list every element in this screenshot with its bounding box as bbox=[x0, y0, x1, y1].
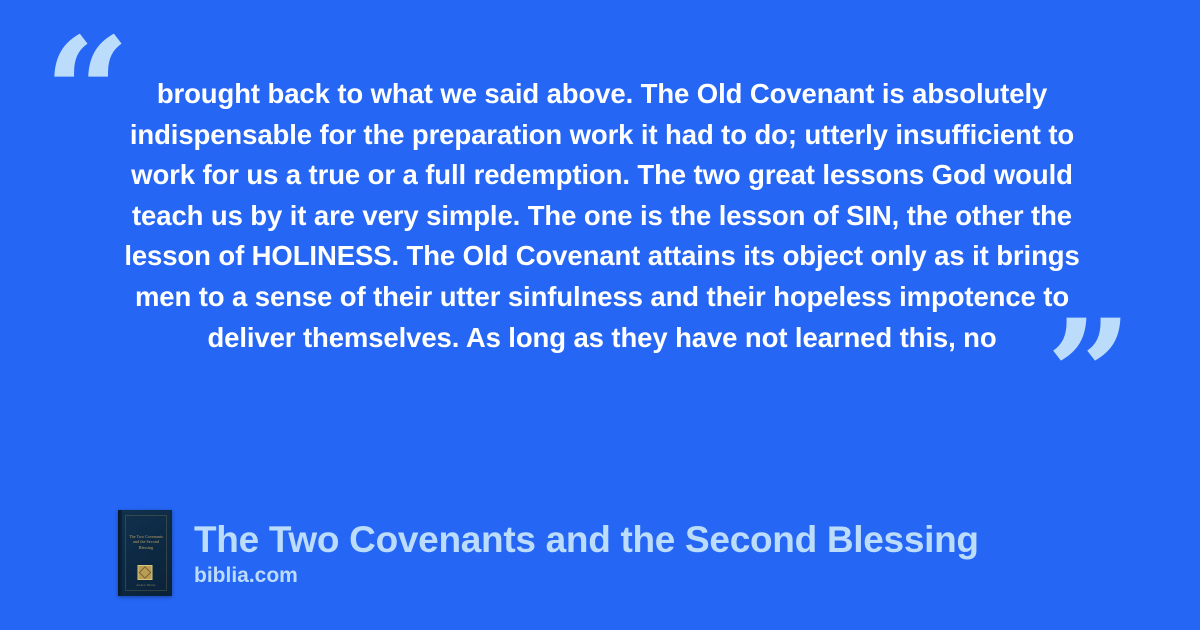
book-title: The Two Covenants and the Second Blessin… bbox=[194, 518, 979, 562]
quote-text: brought back to what we said above. The … bbox=[118, 74, 1086, 358]
quote-card: “ brought back to what we said above. Th… bbox=[0, 0, 1200, 630]
book-cover-thumbnail: The Two Covenants and the Second Blessin… bbox=[118, 510, 172, 596]
book-cover-title: The Two Covenants and the Second Blessin… bbox=[126, 534, 166, 550]
footer-text-block: The Two Covenants and the Second Blessin… bbox=[194, 518, 979, 589]
book-cover-emblem-icon bbox=[138, 565, 153, 580]
close-quote-icon: ” bbox=[1046, 300, 1132, 450]
site-name: biblia.com bbox=[194, 563, 979, 589]
quote-region: “ brought back to what we said above. Th… bbox=[0, 0, 1200, 440]
footer-attribution: The Two Covenants and the Second Blessin… bbox=[118, 510, 979, 596]
book-cover-author: Andrew Murray bbox=[126, 583, 166, 587]
book-spine bbox=[118, 510, 122, 596]
